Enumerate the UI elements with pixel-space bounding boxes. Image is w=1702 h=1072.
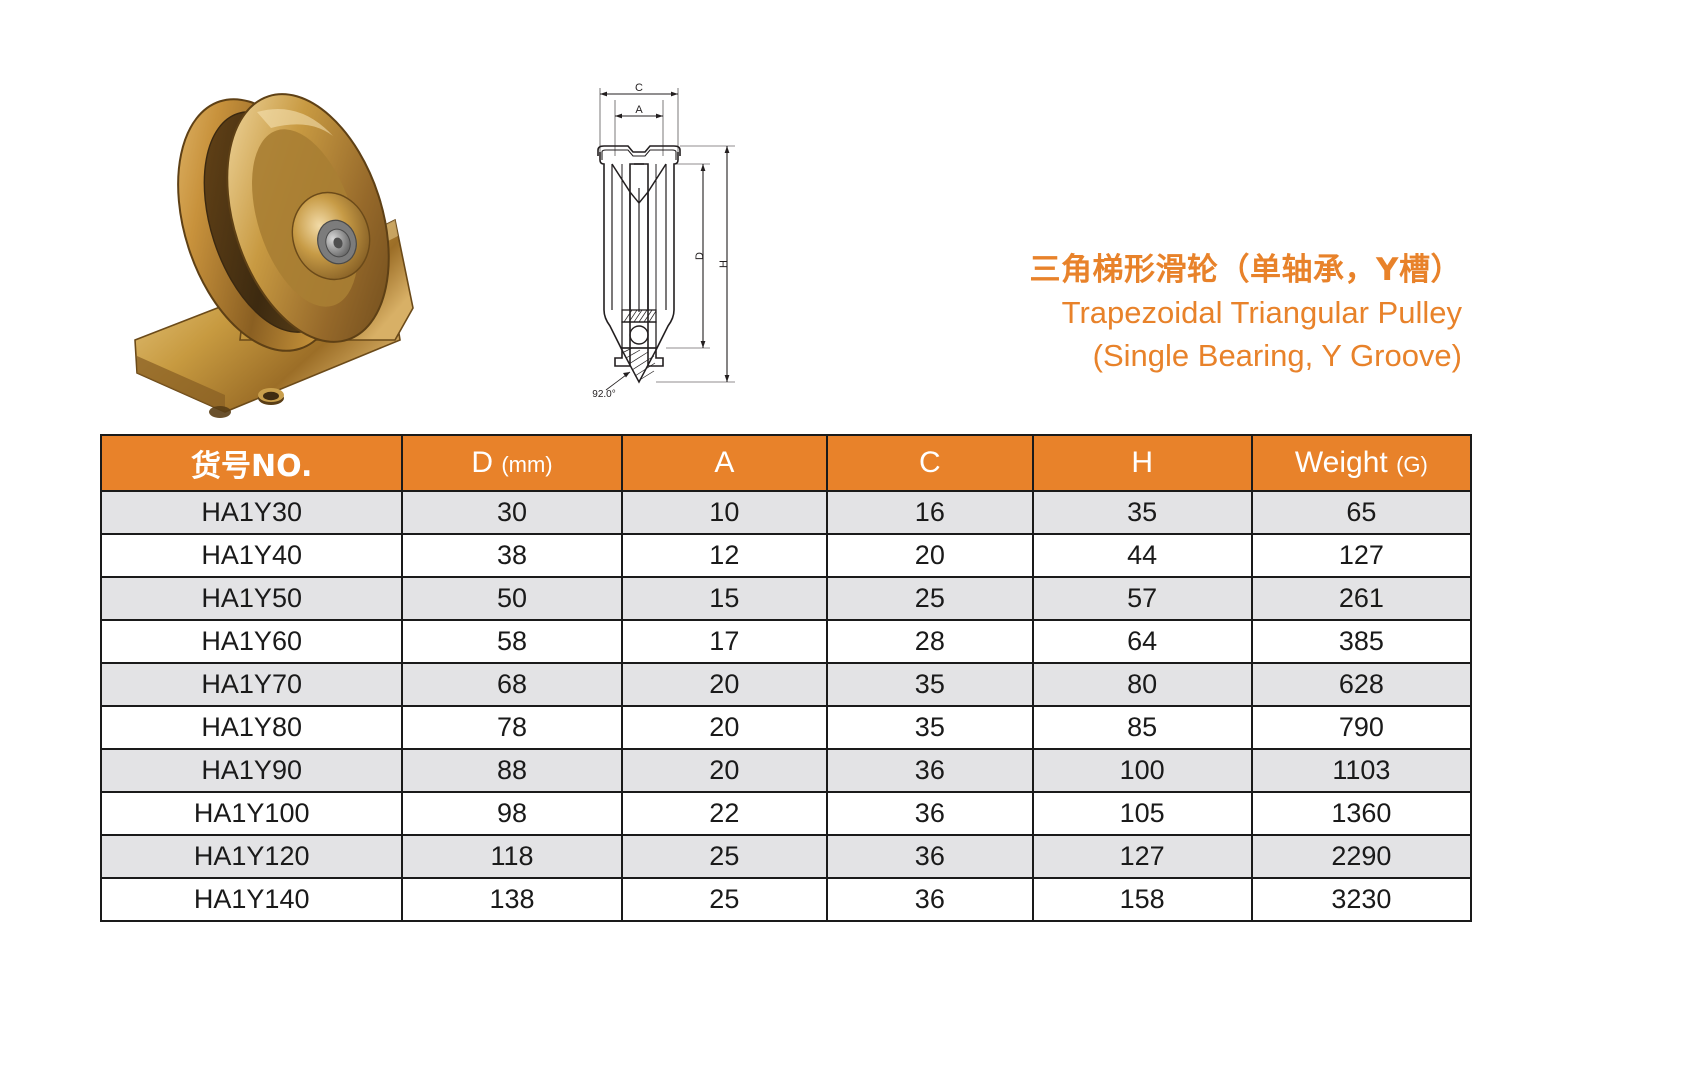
cell-model: HA1Y90 [101,749,402,792]
cell-a: 20 [622,706,828,749]
dim-label-d: D [694,252,706,260]
table-row: HA1Y4038122044127 [101,534,1471,577]
specification-table-wrapper: 货号NO. D (mm) A C H [100,434,1472,922]
title-english-line1: Trapezoidal Triangular Pulley [1030,293,1462,334]
title-english-line2: (Single Bearing, Y Groove) [1030,336,1462,377]
cell-h: 64 [1033,620,1252,663]
cell-model: HA1Y30 [101,491,402,534]
bracket-hatch [624,348,655,381]
cell-d: 138 [402,878,621,921]
cell-model: HA1Y40 [101,534,402,577]
cell-h: 85 [1033,706,1252,749]
technical-drawing: C A D H 92.0° [570,60,770,410]
table-row: HA1Y303010163565 [101,491,1471,534]
cell-weight: 628 [1252,663,1471,706]
cell-h: 127 [1033,835,1252,878]
column-header-a: A [622,435,828,491]
bracket-v-foot [622,348,656,382]
cell-c: 35 [827,706,1033,749]
column-header-c-label: C [919,446,941,479]
cell-d: 78 [402,706,621,749]
cell-d: 50 [402,577,621,620]
cell-a: 22 [622,792,828,835]
cell-d: 30 [402,491,621,534]
cell-weight: 1103 [1252,749,1471,792]
pulley-photo-illustration [95,40,515,425]
cell-h: 35 [1033,491,1252,534]
column-header-weight-label: Weight [1295,446,1388,479]
cell-a: 12 [622,534,828,577]
cell-c: 36 [827,792,1033,835]
product-photo [95,40,515,425]
cell-model: HA1Y50 [101,577,402,620]
cell-h: 100 [1033,749,1252,792]
cell-model: HA1Y120 [101,835,402,878]
dim-label-a: A [635,104,643,116]
cell-a: 15 [622,577,828,620]
column-header-h-label: H [1131,446,1153,479]
cell-weight: 3230 [1252,878,1471,921]
table-row: HA1Y6058172864385 [101,620,1471,663]
table-row: HA1Y14013825361583230 [101,878,1471,921]
cell-model: HA1Y80 [101,706,402,749]
table-header: 货号NO. D (mm) A C H [101,435,1471,491]
column-header-d: D (mm) [402,435,621,491]
cell-d: 88 [402,749,621,792]
cell-weight: 65 [1252,491,1471,534]
dim-label-c: C [635,82,643,94]
product-title-block: 三角梯形滑轮（单轴承，Y槽） Trapezoidal Triangular Pu… [1030,250,1462,377]
title-chinese: 三角梯形滑轮（单轴承，Y槽） [1030,250,1462,291]
cell-c: 20 [827,534,1033,577]
cell-weight: 261 [1252,577,1471,620]
cell-a: 20 [622,663,828,706]
mounting-hole-1-bore [263,392,279,400]
cell-d: 68 [402,663,621,706]
cell-c: 28 [827,620,1033,663]
cell-model: HA1Y140 [101,878,402,921]
cross-section-diagram: C A D H 92.0° [570,60,770,410]
bearing-hatch [624,310,656,322]
cell-h: 44 [1033,534,1252,577]
cell-weight: 790 [1252,706,1471,749]
column-header-d-label: D [471,446,493,479]
column-header-weight-unit: (G) [1396,452,1428,477]
cell-h: 105 [1033,792,1252,835]
cell-c: 25 [827,577,1033,620]
column-header-model-label: 货号NO. [191,449,312,484]
wheel-top-shell [598,146,680,156]
cell-c: 36 [827,878,1033,921]
column-header-d-unit: (mm) [501,452,552,477]
cell-weight: 2290 [1252,835,1471,878]
column-header-weight: Weight (G) [1252,435,1471,491]
product-spec-sheet: C A D H 92.0° 三角梯形滑轮（单轴承，Y槽） Trapezoidal… [0,0,1702,1072]
cell-weight: 385 [1252,620,1471,663]
cell-model: HA1Y70 [101,663,402,706]
column-header-model: 货号NO. [101,435,402,491]
cell-a: 25 [622,878,828,921]
cell-d: 58 [402,620,621,663]
cell-model: HA1Y60 [101,620,402,663]
groove-right-wall [648,164,666,310]
cell-model: HA1Y100 [101,792,402,835]
cell-d: 118 [402,835,621,878]
mounting-hole-2 [209,406,231,418]
table-row: HA1Y1009822361051360 [101,792,1471,835]
specification-table: 货号NO. D (mm) A C H [100,434,1472,922]
cell-a: 17 [622,620,828,663]
table-row: HA1Y908820361001103 [101,749,1471,792]
column-header-a-label: A [714,446,734,479]
cell-c: 35 [827,663,1033,706]
table-body: HA1Y303010163565HA1Y4038122044127HA1Y505… [101,491,1471,921]
cell-c: 36 [827,835,1033,878]
table-row: HA1Y12011825361272290 [101,835,1471,878]
bearing-ball [630,326,648,344]
table-row: HA1Y8078203585790 [101,706,1471,749]
table-header-row: 货号NO. D (mm) A C H [101,435,1471,491]
cell-a: 10 [622,491,828,534]
table-row: HA1Y5050152557261 [101,577,1471,620]
cell-a: 25 [622,835,828,878]
cell-d: 38 [402,534,621,577]
angle-label: 92.0° [592,389,615,400]
dim-label-h: H [718,260,730,268]
cell-d: 98 [402,792,621,835]
cell-h: 57 [1033,577,1252,620]
column-header-h: H [1033,435,1252,491]
cell-weight: 127 [1252,534,1471,577]
groove-left-wall [612,164,630,310]
cell-h: 80 [1033,663,1252,706]
table-row: HA1Y7068203580628 [101,663,1471,706]
cell-a: 20 [622,749,828,792]
column-header-c: C [827,435,1033,491]
cell-c: 16 [827,491,1033,534]
cell-c: 36 [827,749,1033,792]
cell-h: 158 [1033,878,1252,921]
cell-weight: 1360 [1252,792,1471,835]
